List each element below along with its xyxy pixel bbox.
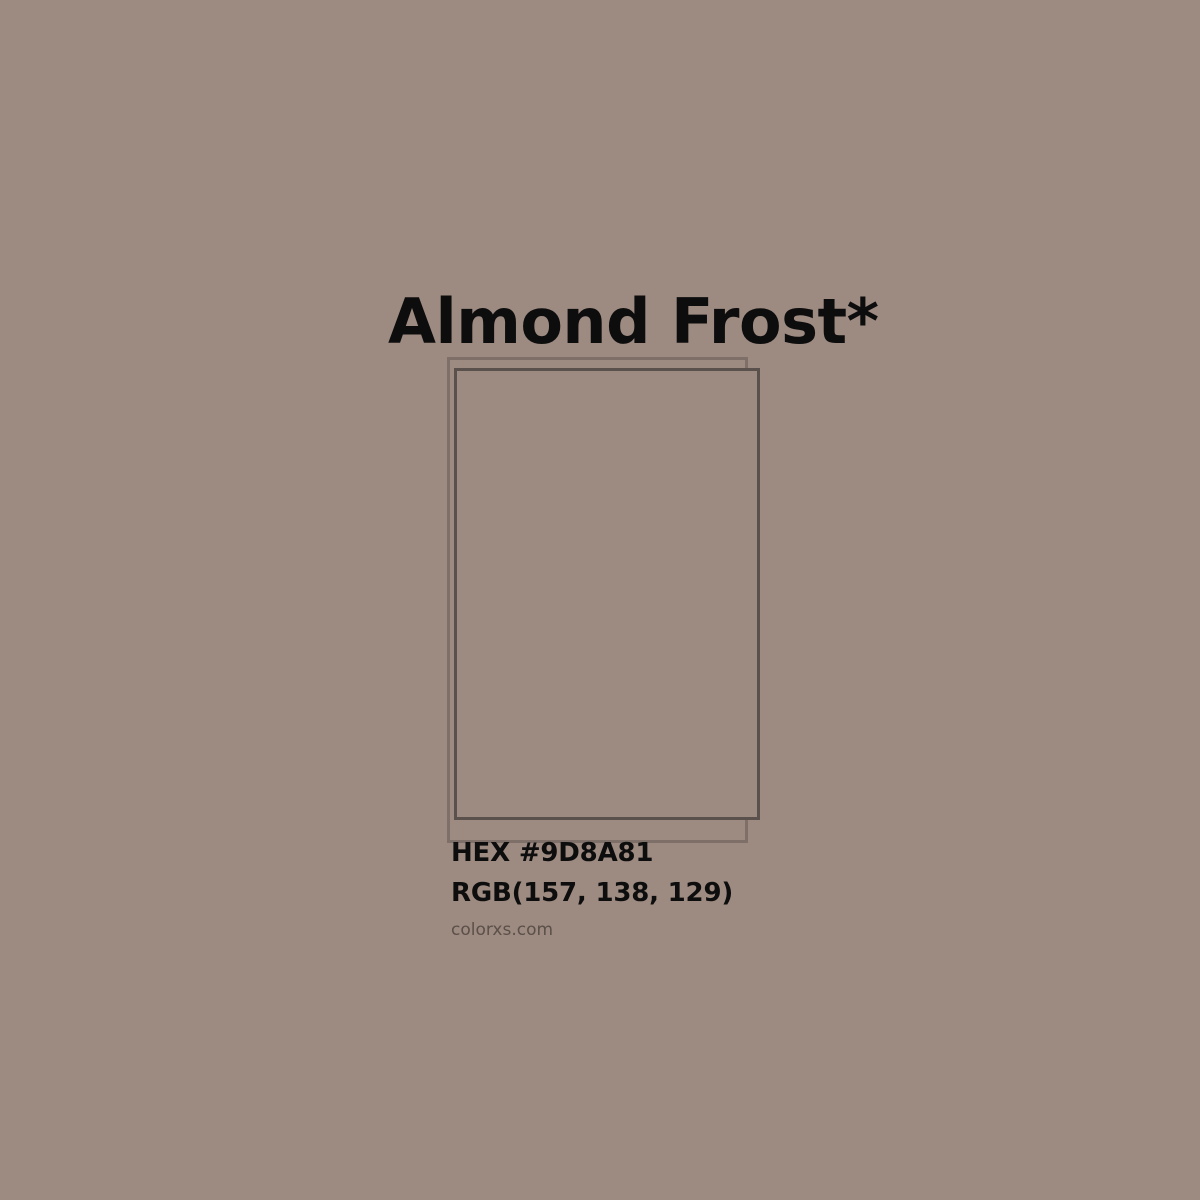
color-swatch-page: Almond Frost* HEX #9D8A81 RGB(157, 138, … [0, 0, 1200, 1200]
swatch-outer-frame [447, 357, 748, 843]
site-credit-label: colorxs.com [451, 917, 971, 943]
swatch-inner-frame [454, 368, 760, 820]
color-info-block: HEX #9D8A81 RGB(157, 138, 129) colorxs.c… [451, 833, 971, 943]
hex-value-label: HEX #9D8A81 [451, 833, 971, 873]
page-title: Almond Frost* [388, 285, 879, 359]
color-swatch [0, 0, 1200, 1200]
rgb-value-label: RGB(157, 138, 129) [451, 873, 971, 913]
